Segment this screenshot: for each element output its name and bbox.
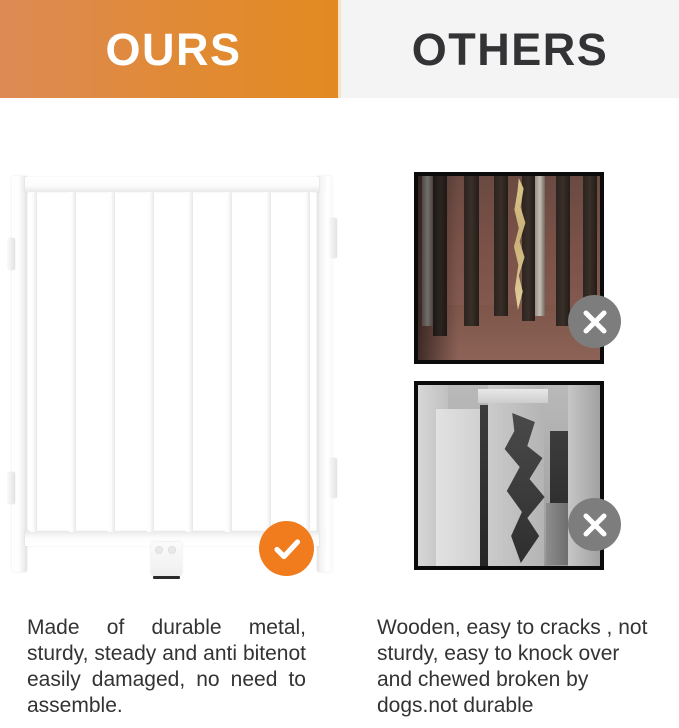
- x-icon: [580, 510, 610, 540]
- x-badge-photo-1: [568, 295, 621, 348]
- gate-slat: [494, 176, 508, 316]
- gate-bars: [30, 192, 314, 532]
- check-badge: [259, 521, 314, 576]
- gate-slat: [556, 176, 570, 326]
- gate-mounting-bracket: [151, 542, 182, 576]
- x-badge-photo-2: [568, 498, 621, 551]
- gate-bar: [303, 192, 310, 532]
- comparison-header: OURS OTHERS: [0, 0, 679, 98]
- frame-top-edge: [478, 389, 548, 403]
- gate-hinge-right-top: [330, 218, 337, 258]
- gate-slat-light: [535, 176, 545, 316]
- gate-hinge-left-top: [8, 238, 15, 270]
- gate-left-post: [12, 176, 27, 572]
- others-label: OTHERS: [412, 27, 609, 72]
- others-caption: Wooden, easy to cracks , not sturdy, eas…: [377, 615, 648, 719]
- bracket-screw-hole: [168, 546, 176, 554]
- ours-banner: OURS: [0, 0, 341, 98]
- bracket-rubber-pad: [153, 576, 180, 579]
- others-banner: OTHERS: [341, 0, 679, 98]
- gate-bar: [147, 192, 154, 532]
- bracket-screw-hole: [155, 546, 163, 554]
- corner-shadow: [418, 176, 458, 360]
- ours-caption: Made of durable metal, sturdy, steady an…: [27, 615, 306, 719]
- gate-bar: [108, 192, 115, 532]
- gate-hinge-right-bottom: [330, 458, 337, 498]
- ours-label: OURS: [105, 27, 241, 72]
- gate-slat: [522, 176, 535, 321]
- gate-bar: [186, 192, 193, 532]
- metal-bracket: [546, 503, 568, 565]
- gate-slat: [464, 176, 479, 326]
- gate-bar: [30, 192, 37, 532]
- white-door-panel: [436, 409, 484, 567]
- gate-bar: [264, 192, 271, 532]
- check-icon: [270, 532, 304, 566]
- metal-gate-graphic: [12, 176, 332, 572]
- gate-top-rail: [25, 177, 319, 192]
- gate-hinge-left-bottom: [8, 472, 15, 504]
- x-icon: [580, 307, 610, 337]
- gate-bar: [69, 192, 76, 532]
- gate-bar: [225, 192, 232, 532]
